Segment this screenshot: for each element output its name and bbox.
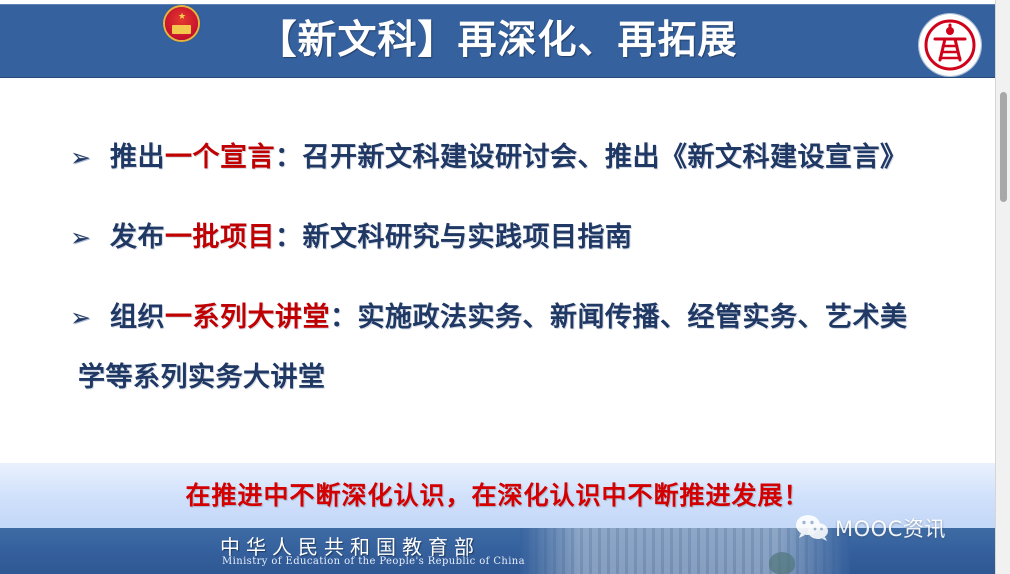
emblem-star: ★ xyxy=(178,13,186,22)
bullet-rest-text: ：实施政法实务、新闻传播、经管实务、艺术美 xyxy=(330,302,908,333)
bullet-item: ➢发布一批项目：新文科研究与实践项目指南 xyxy=(70,215,985,260)
bullet-continuation-line: 学等系列实务大讲堂 xyxy=(78,355,978,400)
wechat-icon xyxy=(795,514,829,542)
national-emblem-icon: ★ xyxy=(163,5,200,42)
bullet-item: ➢组织一系列大讲堂：实施政法实务、新闻传播、经管实务、艺术美 xyxy=(70,295,985,340)
presentation-slide: 【新文科】再深化、再拓展 ➢推出一个宣言：召开新文科建设研讨会、推出《新文科建设… xyxy=(0,0,995,574)
bullet-rest-text: ：召开新文科建设研讨会、推出《新文科建设宣言》 xyxy=(275,142,908,173)
bullet-lead-text: 推出 xyxy=(110,142,165,173)
slide-viewport: 【新文科】再深化、再拓展 ➢推出一个宣言：召开新文科建设研讨会、推出《新文科建设… xyxy=(0,0,1010,574)
bullet-arrow-icon: ➢ xyxy=(70,215,110,260)
ministry-name-en: Ministry of Education of the People's Re… xyxy=(222,556,525,567)
slide-header-bar: 【新文科】再深化、再拓展 xyxy=(0,4,995,78)
emblem-gate xyxy=(172,25,191,34)
vertical-scrollbar[interactable] xyxy=(995,0,1010,574)
bullet-rest-text: ：新文科研究与实践项目指南 xyxy=(275,222,633,253)
bullet-highlight-text: 一系列大讲堂 xyxy=(165,302,330,333)
tree-decoration xyxy=(769,552,795,574)
slide-title: 【新文科】再深化、再拓展 xyxy=(0,4,995,78)
institution-emblem-icon xyxy=(919,14,981,76)
bullet-arrow-icon: ➢ xyxy=(70,135,110,180)
bullet-highlight-text: 一批项目 xyxy=(165,222,275,253)
bullet-item: ➢推出一个宣言：召开新文科建设研讨会、推出《新文科建设宣言》 xyxy=(70,135,985,180)
bullet-arrow-icon: ➢ xyxy=(70,295,110,340)
bullet-lead-text: 发布 xyxy=(110,222,165,253)
channel-watermark: MOOC资讯 xyxy=(795,513,946,543)
scrollbar-thumb[interactable] xyxy=(1000,92,1007,202)
watermark-label: MOOC资讯 xyxy=(835,513,946,543)
bullet-highlight-text: 一个宣言 xyxy=(165,142,275,173)
slide-body: ➢推出一个宣言：召开新文科建设研讨会、推出《新文科建设宣言》 ➢发布一批项目：新… xyxy=(0,78,995,463)
bullet-lead-text: 组织 xyxy=(110,302,165,333)
